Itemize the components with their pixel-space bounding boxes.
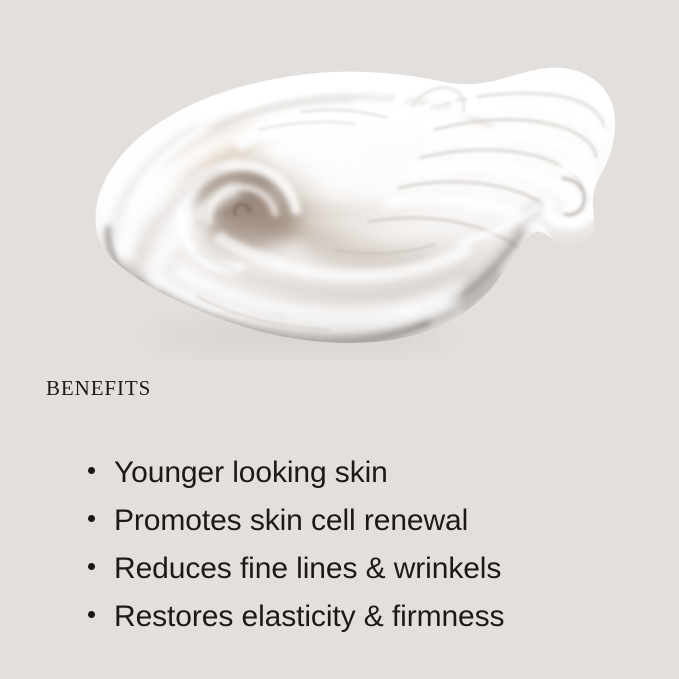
bullet-dot-icon [88, 611, 95, 618]
product-benefits-panel: BENEFITS Younger looking skin Promotes s… [0, 0, 679, 679]
bullet-dot-icon [88, 467, 95, 474]
benefits-section: BENEFITS Younger looking skin Promotes s… [0, 360, 679, 679]
cream-contact-shadow [150, 325, 450, 347]
bullet-dot-icon [88, 563, 95, 570]
hero-image-area [0, 0, 679, 360]
benefits-list: Younger looking skin Promotes skin cell … [88, 458, 504, 650]
list-item: Restores elasticity & firmness [88, 602, 504, 650]
benefits-heading: BENEFITS [46, 378, 151, 399]
benefit-label: Reduces fine lines & wrinkels [114, 554, 501, 584]
bullet-dot-icon [88, 515, 95, 522]
cream-swatch-image [0, 0, 679, 360]
benefit-label: Restores elasticity & firmness [114, 602, 504, 632]
benefit-label: Promotes skin cell renewal [114, 506, 468, 536]
list-item: Younger looking skin [88, 458, 504, 506]
benefit-label: Younger looking skin [114, 458, 388, 488]
list-item: Reduces fine lines & wrinkels [88, 554, 504, 602]
cream-body [0, 0, 679, 360]
list-item: Promotes skin cell renewal [88, 506, 504, 554]
